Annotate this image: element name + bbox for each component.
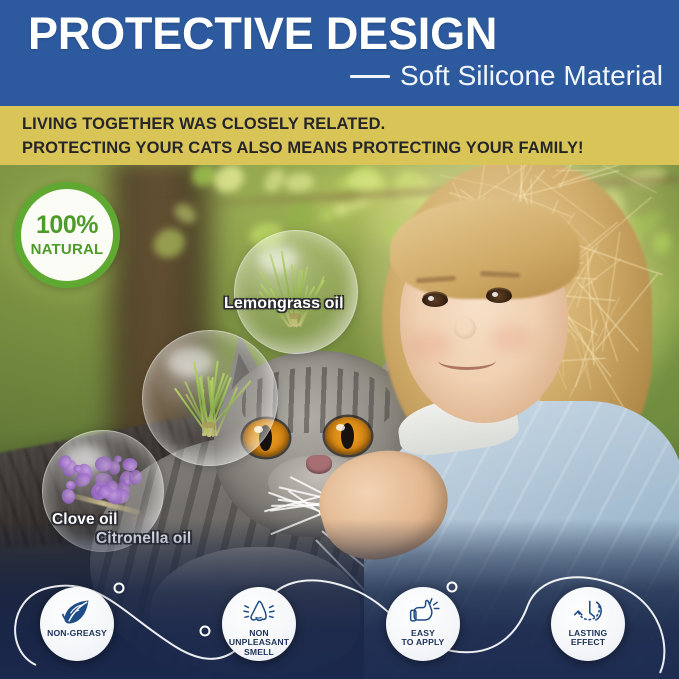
snapping-fingers-icon [405, 597, 441, 627]
natural-word: NATURAL [31, 242, 104, 257]
tagline-line-2: PROTECTING YOUR CATS ALSO MEANS PROTECTI… [22, 139, 584, 158]
clock-arrow-icon [570, 597, 606, 627]
badge-label: NON-GREASY [47, 629, 107, 638]
badge-label: NON UNPLEASANT SMELL [229, 629, 289, 657]
em-dash-icon [350, 75, 390, 78]
girl-cheek-right [490, 325, 534, 353]
natural-badge: 100% NATURAL [14, 182, 120, 288]
lemongrass-oil-bubble [234, 230, 358, 354]
girl-eye-left [422, 293, 448, 307]
header-subtitle: Soft Silicone Material [400, 62, 663, 90]
badge-non-unpleasant-smell[interactable]: NON UNPLEASANT SMELL [222, 587, 296, 661]
product-infographic: PROTECTIVE DESIGN Soft Silicone Material… [0, 0, 679, 679]
hero-photo: 100% NATURAL Lemongrass oil Citronella o… [0, 165, 679, 679]
tagline-line-1: LIVING TOGETHER WAS CLOSELY RELATED. [22, 115, 385, 134]
badge-lasting-effect[interactable]: LASTING EFFECT [551, 587, 625, 661]
girl-eye-right [486, 289, 512, 303]
feature-badge-row: NON-GREASY NON UNPLEASANT SMELL EASY TO … [0, 575, 679, 677]
citronella-oil-bubble [142, 330, 278, 466]
natural-percent: 100% [36, 213, 98, 238]
badge-label: EASY TO APPLY [402, 629, 445, 648]
girl-fringe [390, 199, 580, 299]
girl-smile [438, 351, 496, 370]
leaf-icon [59, 597, 95, 627]
badge-easy-to-apply[interactable]: EASY TO APPLY [386, 587, 460, 661]
header-subtitle-row: Soft Silicone Material [350, 62, 663, 90]
nose-icon [241, 597, 277, 627]
lemongrass-oil-label: Lemongrass oil [224, 295, 344, 313]
girl-nose [454, 317, 476, 339]
tagline-band: LIVING TOGETHER WAS CLOSELY RELATED. PRO… [0, 106, 679, 165]
page-title: PROTECTIVE DESIGN [28, 11, 497, 56]
badge-non-greasy[interactable]: NON-GREASY [40, 587, 114, 661]
citronella-stalks-icon [167, 360, 255, 440]
badge-label: LASTING EFFECT [569, 629, 608, 648]
header-banner: PROTECTIVE DESIGN Soft Silicone Material [0, 0, 679, 106]
